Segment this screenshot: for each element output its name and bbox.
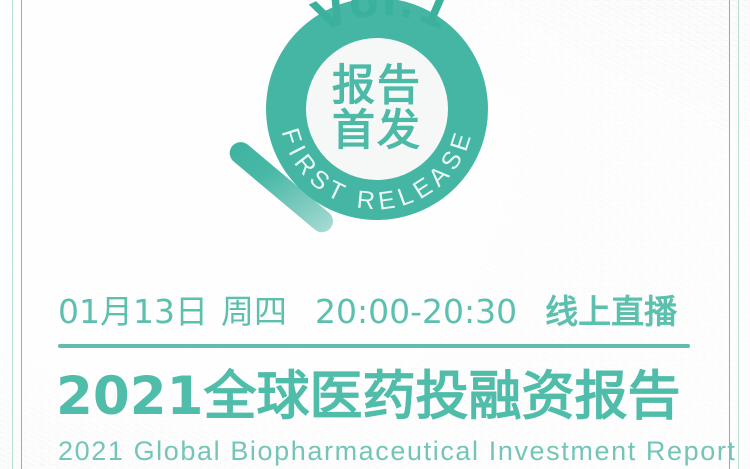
first-release-textpath: FIRST RELEASE (276, 125, 479, 216)
event-info-line: 01月13日 周四 20:00-20:30 线上直播 (58, 285, 698, 333)
event-weekday: 周四 (221, 285, 287, 333)
event-time: 20:00-20:30 (315, 292, 517, 331)
poster-canvas: Vol.1 报告 首发 FIRST RELEASE 01月13日 周四 20:0… (0, 0, 750, 469)
event-date: 01月13日 (58, 285, 208, 333)
event-mode-live-stream: 线上直播 (545, 285, 677, 333)
first-release-arc-text: FIRST RELEASE (233, 0, 521, 246)
border-rule-right-inner (729, 0, 730, 469)
first-release-badge: Vol.1 报告 首发 FIRST RELEASE (233, 0, 521, 246)
page-subtitle-english: 2021 Global Biopharmaceutical Investment… (58, 436, 737, 467)
border-rule-right-outer (738, 0, 739, 469)
border-rule-left-outer (12, 0, 13, 469)
section-divider (58, 344, 690, 348)
page-title-chinese: 2021全球医药投融资报告 (56, 368, 681, 425)
first-release-label: FIRST RELEASE (276, 125, 479, 216)
border-rule-left-inner (21, 0, 22, 469)
